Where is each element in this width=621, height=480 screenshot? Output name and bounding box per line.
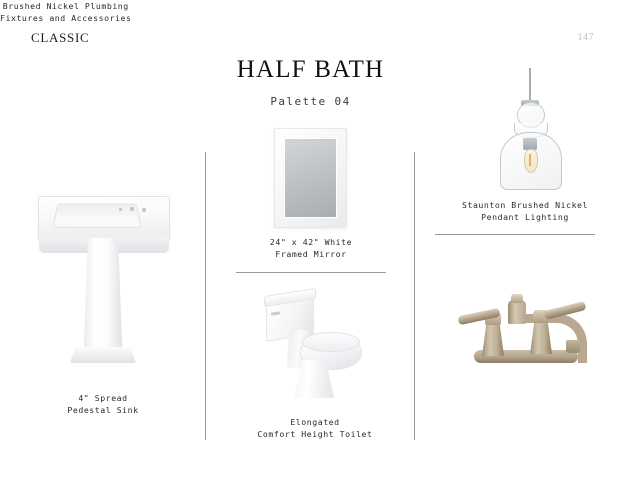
faucet-center-post-shape xyxy=(508,300,526,324)
toilet-icon xyxy=(264,290,364,402)
framed-mirror-icon xyxy=(274,128,347,228)
caption-line-2: Fixtures and Accessories xyxy=(0,12,132,24)
caption-line-1: Elongated xyxy=(240,416,390,428)
sink-basin-shape xyxy=(38,196,170,242)
section-divider-right xyxy=(435,234,595,235)
sink-bowl-shape xyxy=(53,204,142,228)
sink-faucet-hole-right xyxy=(142,208,146,212)
caption-line-1: 4" Spread xyxy=(28,392,178,404)
caption-line-2: Framed Mirror xyxy=(246,248,376,260)
faucet-center-cap-shape xyxy=(511,294,523,303)
pendant-bulb-shape xyxy=(524,149,538,173)
caption-framed-mirror: 24" x 42" White Framed Mirror xyxy=(246,236,376,260)
sink-faucet-hole-center xyxy=(130,207,134,211)
caption-line-1: Brushed Nickel Plumbing xyxy=(0,0,132,12)
caption-line-2: Pendant Lighting xyxy=(440,211,610,223)
pendant-filament-shape xyxy=(529,154,531,166)
column-divider-left xyxy=(205,152,206,440)
column-divider-right xyxy=(414,152,415,440)
mirror-frame-shape xyxy=(274,128,347,228)
pedestal-sink-icon xyxy=(38,186,168,372)
faucet-spout-shape xyxy=(522,314,587,363)
toilet-seat-shape xyxy=(302,332,360,352)
design-board-page: CLASSIC 147 HALF BATH Palette 04 4" Spre… xyxy=(0,0,621,480)
section-divider-middle xyxy=(236,272,386,273)
caption-pedestal-sink: 4" Spread Pedestal Sink xyxy=(28,392,178,416)
caption-plumbing-fixtures: Brushed Nickel Plumbing Fixtures and Acc… xyxy=(0,0,132,24)
caption-line-1: 24" x 42" White xyxy=(246,236,376,248)
sink-pedestal-column-shape xyxy=(82,238,124,350)
faucet-spout-tip-shape xyxy=(566,340,580,353)
faucet-left-handle-column-shape xyxy=(482,320,504,356)
caption-toilet: Elongated Comfort Height Toilet xyxy=(240,416,390,440)
mirror-glass-shape xyxy=(284,138,337,218)
caption-pendant-lighting: Staunton Brushed Nickel Pendant Lighting xyxy=(440,199,610,223)
caption-line-2: Pedestal Sink xyxy=(28,404,178,416)
sink-faucet-hole-left xyxy=(119,208,122,211)
caption-line-2: Comfort Height Toilet xyxy=(240,428,390,440)
brand-label: CLASSIC xyxy=(31,30,89,46)
bathroom-faucet-icon xyxy=(456,292,596,370)
page-number: 147 xyxy=(578,32,595,43)
caption-line-1: Staunton Brushed Nickel xyxy=(440,199,610,211)
pendant-light-icon xyxy=(480,68,580,190)
sink-pedestal-foot-shape xyxy=(70,347,136,363)
